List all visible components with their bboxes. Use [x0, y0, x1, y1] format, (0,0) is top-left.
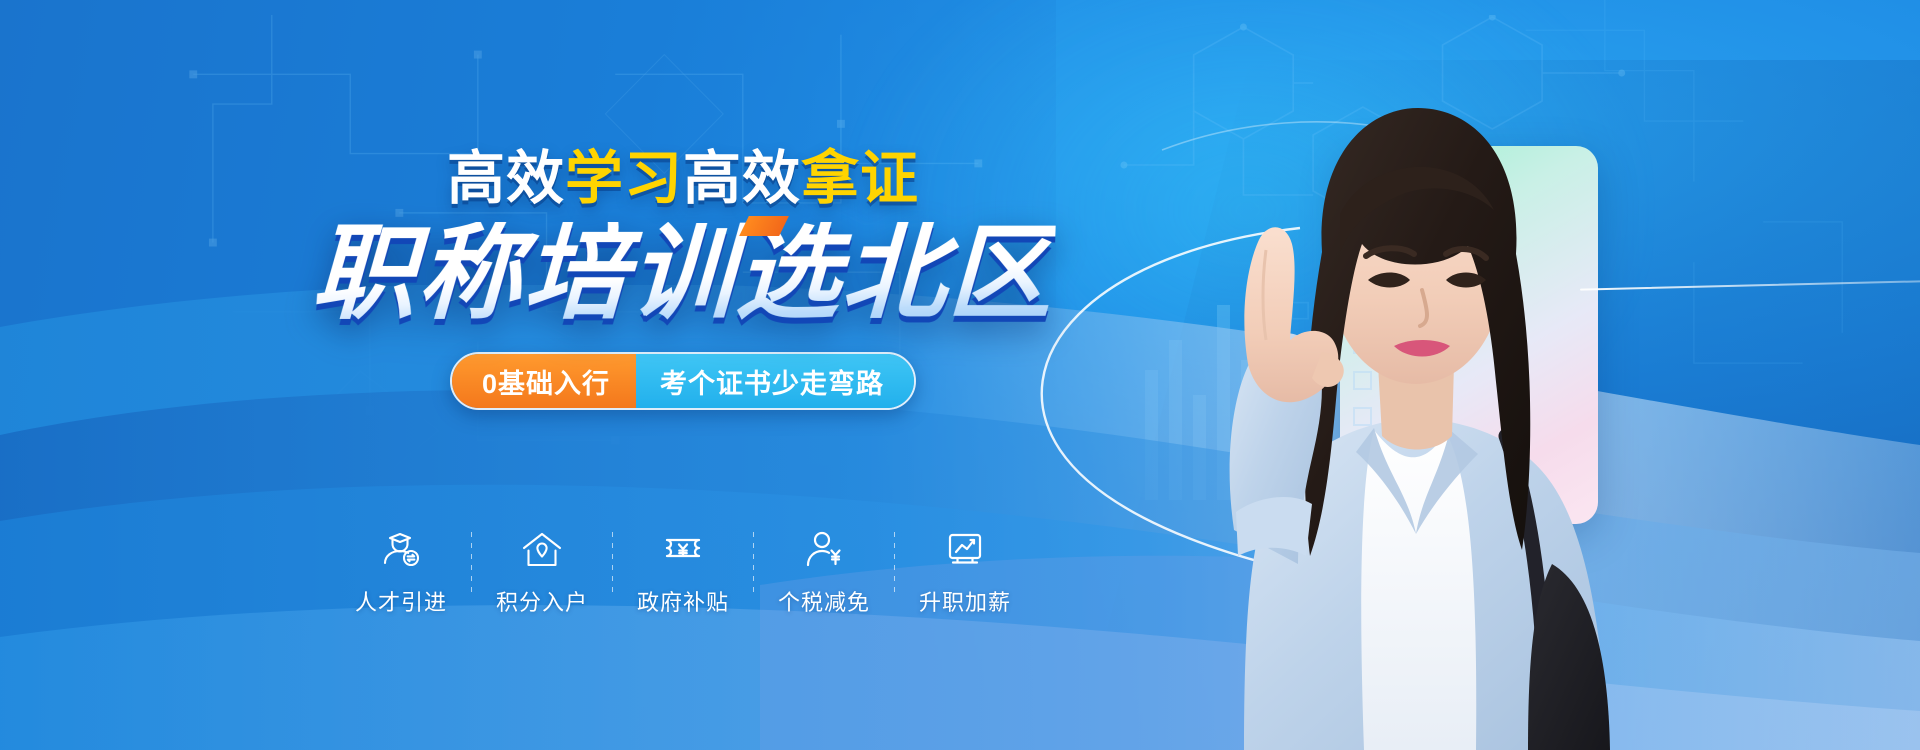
subline-segment-1: 高效 — [447, 146, 565, 211]
subline: 高效学习高效拿证 — [268, 150, 1098, 208]
house-pin-icon — [520, 528, 564, 572]
feature-item-promotion-raise[interactable]: 升职加薪 — [895, 528, 1035, 617]
feature-item-talent-introduction[interactable]: 人才引进 — [331, 528, 471, 617]
feature-label: 积分入户 — [496, 585, 588, 617]
subline-segment-2: 学习 — [565, 146, 683, 211]
person-yuan-icon — [802, 528, 846, 572]
feature-item-points-residency[interactable]: 积分入户 — [472, 528, 612, 617]
headline: 职称培训选北区 — [310, 222, 1056, 326]
promo-banner: 高效学习高效拿证 职称培训选北区 0基础入行 考个证书少走弯路 人才引进 — [0, 0, 1920, 750]
subline-segment-3: 高效 — [683, 146, 801, 211]
woman-pointing-photo — [1116, 64, 1676, 750]
badge-left-label: 0基础入行 — [452, 354, 636, 408]
feature-item-government-subsidy[interactable]: 政府补贴 — [613, 528, 753, 617]
feature-label: 升职加薪 — [919, 585, 1011, 617]
chart-monitor-icon — [943, 528, 987, 572]
subline-segment-4: 拿证 — [801, 146, 919, 211]
badge-right-label: 考个证书少走弯路 — [636, 354, 914, 408]
feature-list: 人才引进 积分入户 政府补贴 — [268, 528, 1098, 617]
copy-block: 高效学习高效拿证 职称培训选北区 0基础入行 考个证书少走弯路 — [268, 150, 1098, 410]
coupon-yuan-icon — [661, 528, 705, 572]
feature-label: 人才引进 — [355, 585, 447, 617]
headline-wrapper: 职称培训选北区 — [312, 222, 1054, 352]
graduate-person-icon — [379, 528, 423, 572]
hero-figure-area — [1020, 0, 1920, 750]
feature-item-tax-reduction[interactable]: 个税减免 — [754, 528, 894, 617]
feature-label: 个税减免 — [778, 585, 870, 617]
tagline-badge[interactable]: 0基础入行 考个证书少走弯路 — [450, 352, 916, 410]
feature-label: 政府补贴 — [637, 585, 729, 617]
